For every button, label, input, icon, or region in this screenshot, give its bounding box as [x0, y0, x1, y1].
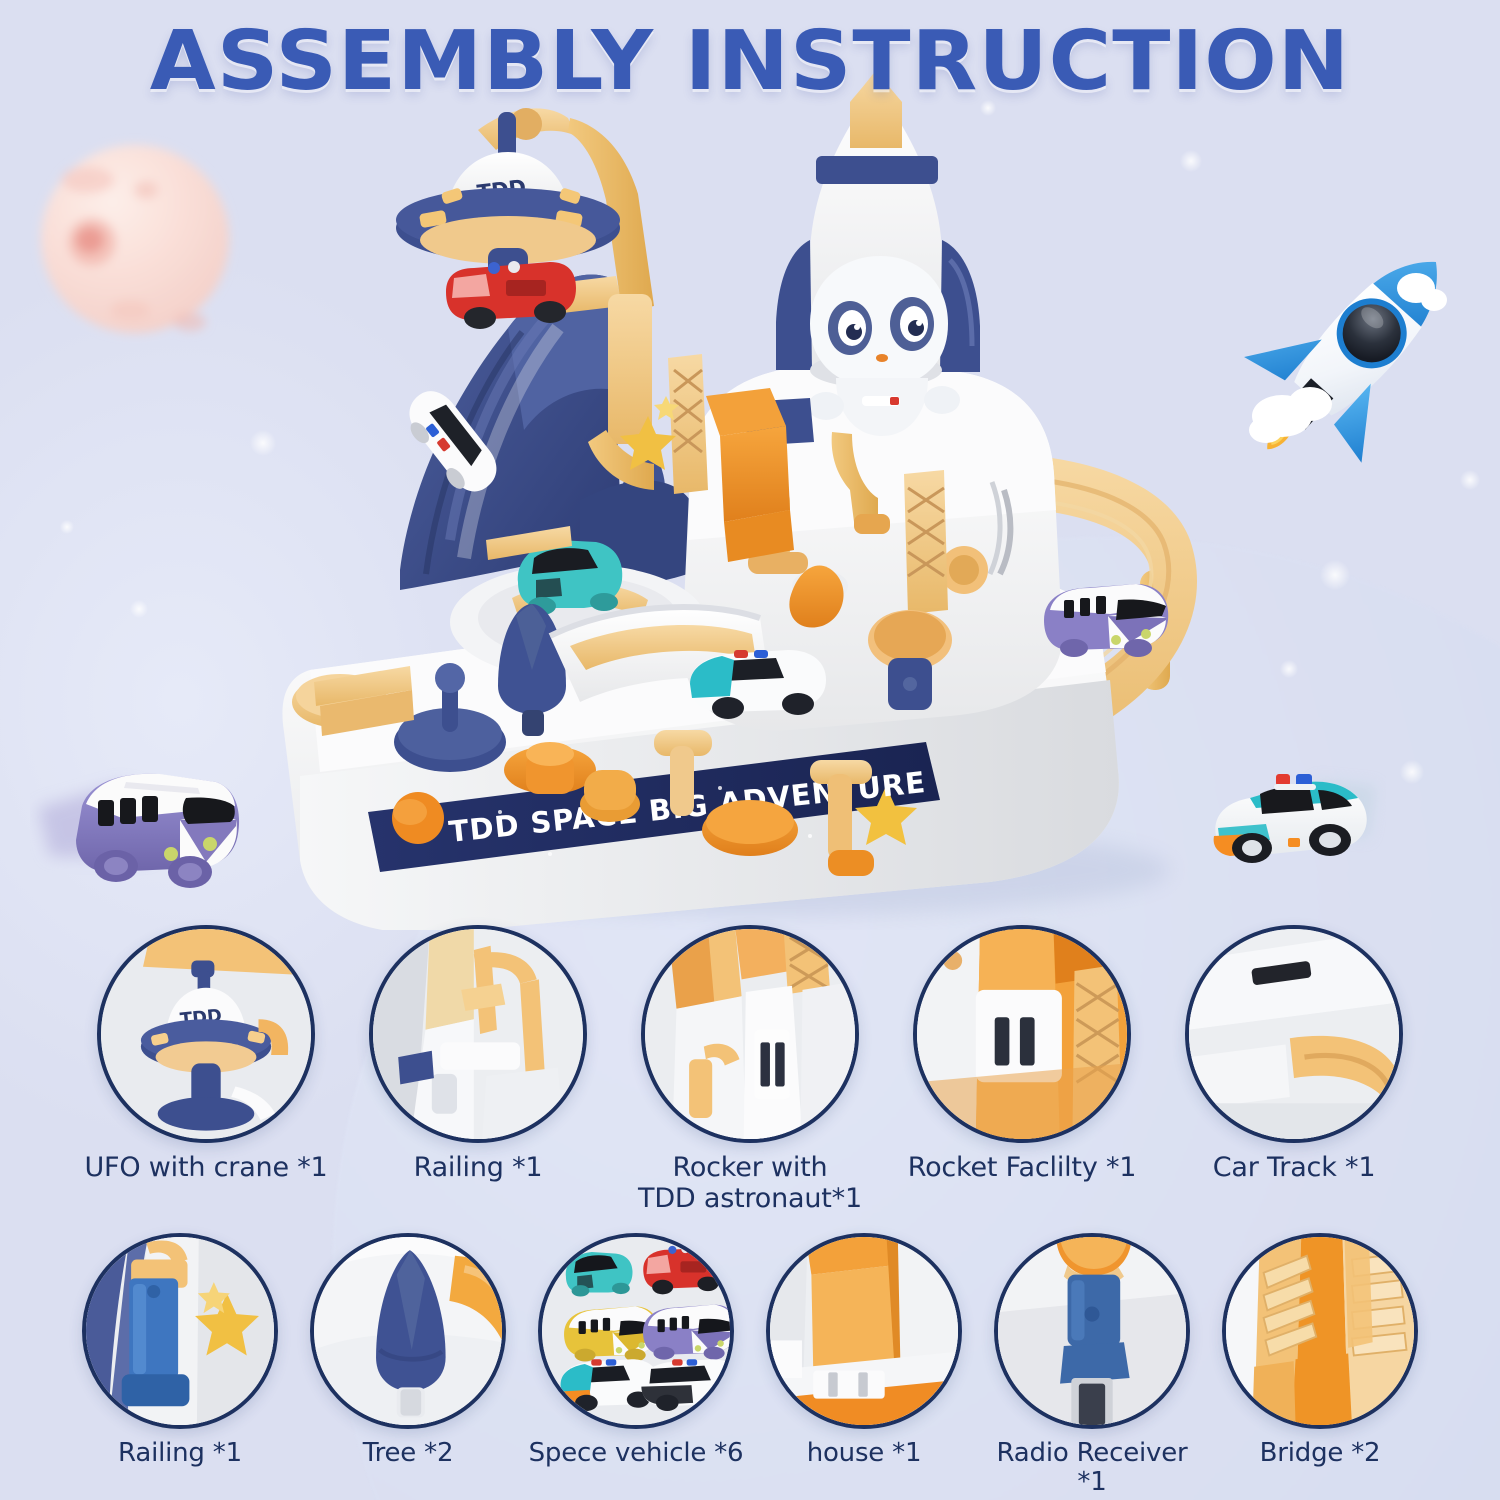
radio-receiver-thumb: [994, 1233, 1190, 1429]
part-item[interactable]: Spece vehicle *6: [522, 1233, 750, 1469]
space-vehicle-thumb: [538, 1233, 734, 1429]
part-item[interactable]: Car Track *1: [1158, 925, 1430, 1184]
part-item[interactable]: Radio Receiver *1: [978, 1233, 1206, 1498]
part-label: Railing *1: [414, 1153, 543, 1184]
house-thumb: [766, 1233, 962, 1429]
part-item[interactable]: Bridge *2: [1206, 1233, 1434, 1469]
page-title: ASSEMBLY INSTRUCTION: [0, 14, 1500, 109]
ufo-crane-thumb: TDD: [97, 925, 315, 1143]
part-label: Spece vehicle *6: [529, 1439, 744, 1469]
rocket-facility-thumb: [913, 925, 1131, 1143]
part-item[interactable]: house *1: [750, 1233, 978, 1469]
rocker-astronaut-thumb: [641, 925, 859, 1143]
tree-thumb: [310, 1233, 506, 1429]
part-label: Radio Receiver *1: [978, 1439, 1206, 1498]
railing-thumb: [369, 925, 587, 1143]
parts-list: TDD: [0, 925, 1500, 1498]
parts-row-1: TDD: [0, 925, 1500, 1215]
part-label: Rocket Faclilty *1: [908, 1153, 1137, 1184]
hero-product-illustration: TDD SPACE BIG ADVENTURE: [0, 0, 1500, 930]
part-label: Bridge *2: [1260, 1439, 1381, 1469]
car-track-thumb: [1185, 925, 1403, 1143]
lattice-tower: [904, 470, 948, 614]
part-item[interactable]: TDD: [70, 925, 342, 1184]
part-label: Car Track *1: [1213, 1153, 1376, 1184]
part-item[interactable]: Railing *1: [342, 925, 614, 1184]
blue-rocket-decor: [1238, 218, 1488, 468]
part-label: Railing *1: [118, 1439, 242, 1469]
railing-blue-thumb: [82, 1233, 278, 1429]
part-label: UFO with crane *1: [84, 1153, 327, 1184]
infographic-page: ASSEMBLY INSTRUCTION: [0, 0, 1500, 1500]
part-item[interactable]: Railing *1: [66, 1233, 294, 1469]
red-fire-truck: [446, 261, 576, 329]
part-label: Rocker with TDD astronaut*1: [638, 1153, 862, 1215]
part-item[interactable]: Tree *2: [294, 1233, 522, 1469]
part-item[interactable]: Rocker with TDD astronaut*1: [614, 925, 886, 1215]
purple-minibus-ontrack: [1044, 584, 1168, 657]
part-label: house *1: [807, 1439, 922, 1469]
toy-playset: TDD SPACE BIG ADVENTURE: [250, 70, 1250, 930]
part-item[interactable]: Rocket Faclilty *1: [886, 925, 1158, 1184]
part-label: Tree *2: [363, 1439, 454, 1469]
pink-planet-decor: [30, 132, 240, 347]
purple-minibus-decor: [30, 748, 260, 908]
bridge-thumb: [1222, 1233, 1418, 1429]
parts-row-2: Railing *1: [0, 1233, 1500, 1498]
lattice-tower-2: [668, 354, 708, 494]
teal-police-car-ontrack: [690, 650, 826, 719]
